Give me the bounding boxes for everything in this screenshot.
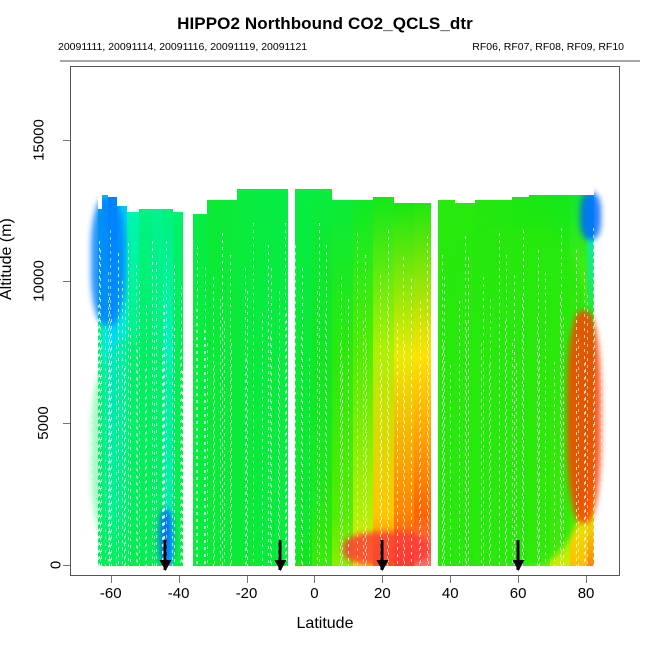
flight-track-streak [326, 245, 327, 565]
above-ceiling-mask [108, 67, 116, 197]
flight-start-arrow [279, 540, 282, 570]
flight-track-streak [523, 230, 524, 565]
flight-track-streak [554, 362, 555, 566]
flight-track-streak [118, 253, 119, 566]
flight-start-arrow [517, 540, 520, 570]
flight-track-streak [601, 250, 602, 565]
x-axis-tick-label: 0 [310, 585, 318, 602]
y-axis-tick-label: 15000 [18, 131, 60, 148]
x-axis-title: Latitude [0, 615, 650, 633]
flight-start-arrow [164, 540, 167, 570]
flight-track-streak [125, 303, 126, 566]
flight-track-streak [428, 323, 429, 566]
flight-track-streak [388, 230, 389, 565]
flight-track-streak [539, 339, 540, 565]
feature-arctic-upper-level-depletion [580, 192, 600, 240]
above-ceiling-mask [163, 67, 173, 209]
above-ceiling-mask [570, 67, 587, 195]
x-axis-tick [247, 576, 248, 583]
x-axis-tick [382, 576, 383, 583]
above-ceiling-mask [207, 67, 221, 200]
y-axis-tick-label: 10000 [18, 273, 60, 290]
x-axis-tick-label: 80 [578, 585, 595, 602]
flight-track-streak [205, 267, 206, 566]
above-ceiling-mask [587, 67, 594, 195]
flight-track-streak [302, 268, 303, 566]
above-ceiling-mask [373, 67, 393, 197]
page-title: HIPPO2 Northbound CO2_QCLS_dtr [0, 14, 650, 34]
y-axis-tick-label: 5000 [27, 415, 60, 432]
flight-track-streak [309, 358, 310, 565]
flight-track-streak [156, 262, 157, 565]
header-divider [60, 60, 640, 62]
x-axis-tick [179, 576, 180, 583]
flight-track-streak [319, 223, 320, 566]
flight-track-streak [411, 279, 412, 566]
x-axis-tick [586, 576, 587, 583]
flight-track-streak [130, 328, 131, 565]
plot-frame [70, 66, 620, 576]
flight-track-streak [172, 326, 173, 565]
flight-dates-label: 20091111, 20091114, 20091116, 20091119, … [58, 41, 307, 53]
x-axis-tick [314, 576, 315, 583]
flight-track-streak [197, 246, 198, 566]
flight-track-streak [563, 317, 564, 566]
flight-track-streak [516, 363, 517, 566]
flight-track-streak [506, 255, 507, 566]
y-axis-tick [63, 423, 70, 424]
above-ceiling-mask [220, 67, 237, 200]
above-ceiling-mask [434, 67, 454, 200]
above-ceiling-mask [414, 67, 434, 203]
above-ceiling-mask [495, 67, 512, 200]
flight-track-streak [105, 326, 106, 565]
flight-track-streak [220, 299, 221, 566]
above-ceiling-mask [117, 67, 127, 206]
flight-track-streak [253, 223, 254, 566]
flight-track-streak [101, 339, 102, 565]
y-axis-tick [63, 281, 70, 282]
above-ceiling-mask [275, 67, 292, 189]
above-ceiling-mask [127, 67, 139, 212]
x-axis-tick-label: -40 [168, 585, 190, 602]
flight-track-streak [231, 343, 232, 566]
flight-track-streak [397, 323, 398, 566]
flight-track-streak [381, 363, 382, 566]
flight-track-streak [152, 241, 153, 566]
flight-track-streak [459, 301, 460, 566]
flight-track-streak [295, 245, 296, 565]
flight-track-streak [490, 299, 491, 566]
flight-track-streak [357, 233, 358, 566]
flight-track-streak [594, 317, 595, 566]
x-axis-tick [518, 576, 519, 583]
above-ceiling-mask [512, 67, 529, 197]
x-axis-tick [450, 576, 451, 583]
above-ceiling-mask [353, 67, 373, 200]
flight-track-streak [247, 291, 248, 566]
flight-track-streak [262, 313, 263, 565]
above-ceiling-mask [312, 67, 332, 189]
above-ceiling-mask [332, 67, 352, 200]
flight-track-streak [468, 257, 469, 565]
below-ground-mask [71, 566, 619, 575]
flight-track-streak [146, 305, 147, 566]
above-ceiling-mask [394, 67, 414, 203]
flight-track-streak [174, 265, 175, 566]
flight-track-streak [116, 346, 117, 565]
plot-root: HIPPO2 Northbound CO2_QCLS_dtr 20091111,… [0, 0, 650, 650]
above-ceiling-mask [529, 67, 549, 195]
flight-track-streak [139, 284, 140, 566]
y-axis-tick-label: 0 [52, 556, 60, 573]
flight-track-streak [111, 319, 112, 566]
above-ceiling-mask [550, 67, 570, 195]
flight-track-streak [420, 301, 421, 566]
x-axis-tick-label: 60 [510, 585, 527, 602]
flight-track-streak [578, 339, 579, 565]
x-axis-tick-label: -20 [236, 585, 258, 602]
flight-track-streak [271, 268, 272, 566]
flight-track-streak [207, 343, 208, 566]
flight-track-streak [224, 321, 225, 566]
above-ceiling-mask [258, 67, 275, 189]
above-ceiling-mask [237, 67, 257, 189]
heatmap-canvas [71, 67, 619, 575]
flight-track-streak [286, 313, 287, 565]
flight-track-streak [545, 272, 546, 565]
above-ceiling-mask [102, 67, 109, 195]
above-ceiling-mask [139, 67, 153, 209]
x-axis-tick [111, 576, 112, 583]
above-ceiling-mask [455, 67, 475, 203]
y-axis-tick [63, 140, 70, 141]
flight-track-streak [279, 291, 280, 566]
above-ceiling-mask [475, 67, 495, 200]
flight-track-streak [483, 277, 484, 566]
flight-track-streak [450, 365, 451, 566]
flight-track-streak [499, 233, 500, 566]
flight-track-streak [137, 350, 138, 566]
flight-track-streak [587, 295, 588, 566]
above-ceiling-mask [190, 67, 207, 214]
y-axis-title: Altitude (m) [0, 218, 16, 300]
flight-start-arrow [381, 540, 384, 570]
flight-track-streak [214, 365, 215, 566]
flight-numbers-label: RF06, RF07, RF08, RF09, RF10 [472, 41, 624, 53]
flight-track-streak [512, 343, 513, 566]
x-axis-tick-label: 20 [374, 585, 391, 602]
flight-track-streak [91, 369, 92, 565]
flight-track-streak [444, 277, 445, 566]
above-ceiling-mask [152, 67, 162, 209]
flight-track-streak [585, 362, 586, 566]
above-ceiling-mask [173, 67, 190, 212]
flight-track-streak [348, 299, 349, 566]
flight-track-streak [404, 344, 405, 565]
x-axis-tick-label: 40 [442, 585, 459, 602]
x-axis-tick-label: -60 [100, 585, 122, 602]
flight-track-streak [342, 365, 343, 566]
above-ceiling-mask [292, 67, 312, 189]
flight-track-streak [166, 241, 167, 566]
profile-column [373, 197, 393, 565]
flight-track-streak [366, 343, 367, 566]
